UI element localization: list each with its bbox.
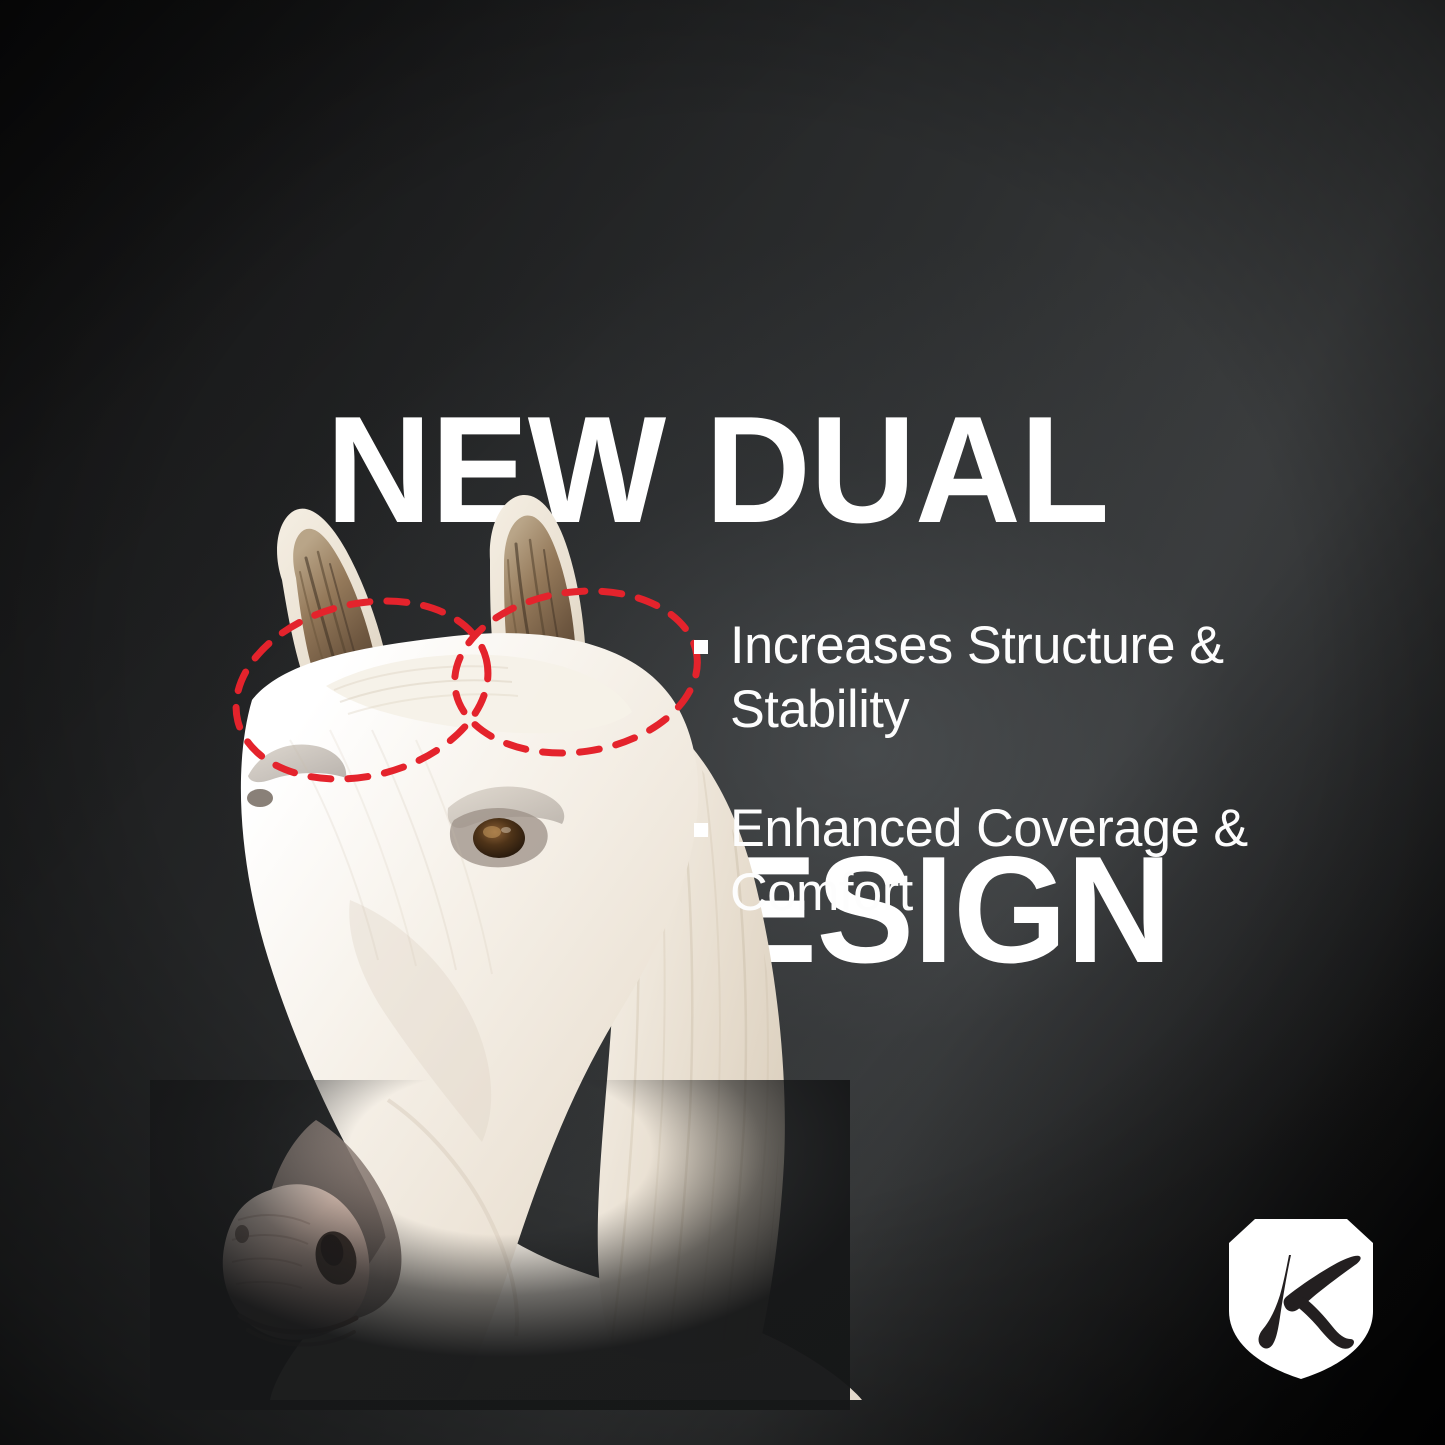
list-item: Enhanced Coverage & Comfort — [694, 797, 1374, 924]
feature-text-coverage-comfort: Enhanced Coverage & Comfort — [730, 797, 1364, 924]
horse-nostril-far — [235, 1225, 249, 1243]
feature-list: Increases Structure & Stability Enhanced… — [694, 614, 1374, 924]
square-bullet-icon — [694, 823, 708, 837]
promo-image-canvas: NEW DUAL EAR DESIGN — [0, 0, 1445, 1445]
list-item: Increases Structure & Stability — [694, 614, 1374, 741]
feature-text-structure-stability: Increases Structure & Stability — [730, 614, 1364, 741]
brand-logo — [1225, 1215, 1377, 1383]
shield-k-logo-icon — [1225, 1215, 1377, 1383]
horse-eye-far — [247, 789, 273, 807]
square-bullet-icon — [694, 640, 708, 654]
horse-eye — [450, 808, 548, 867]
